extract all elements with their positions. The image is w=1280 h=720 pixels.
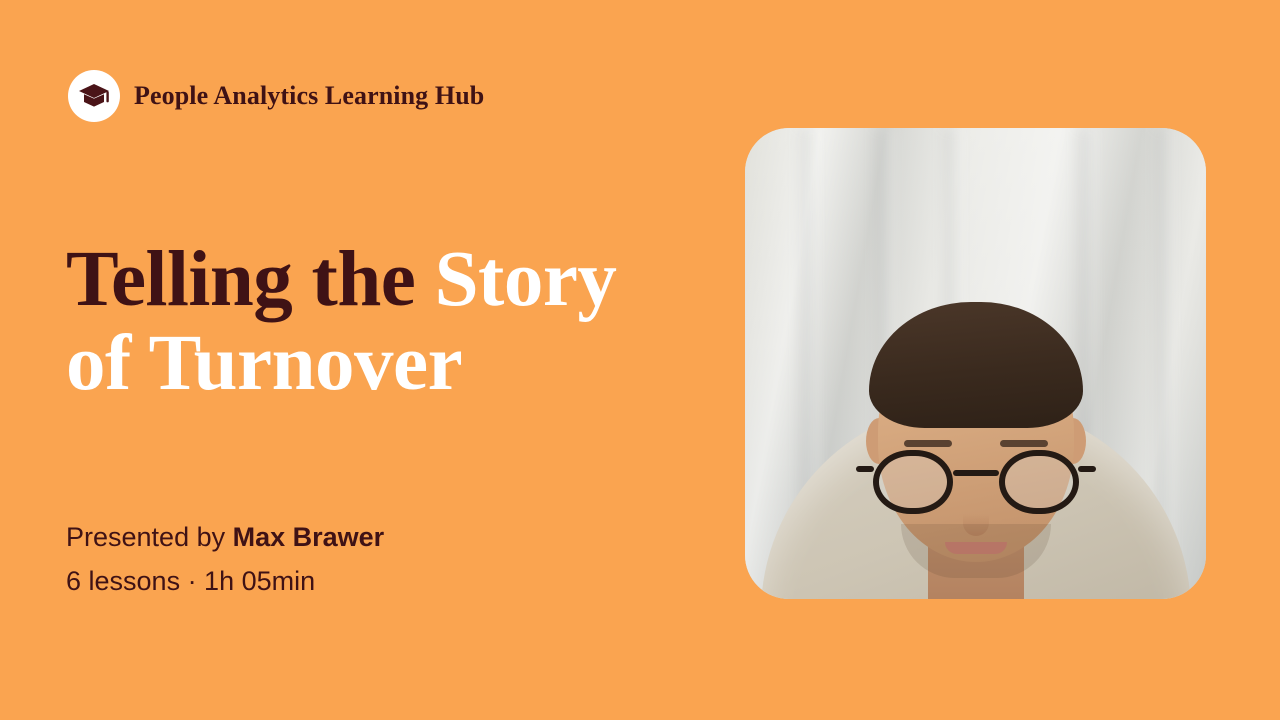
presenter-line: Presented by Max Brawer — [66, 518, 384, 556]
brand-lockup[interactable]: People Analytics Learning Hub — [68, 70, 484, 122]
course-details: 6 lessons · 1h 05min — [66, 562, 384, 600]
glasses-bridge — [953, 470, 999, 476]
title-part-dark: Telling the — [66, 236, 435, 323]
glasses-temple-right — [1078, 466, 1096, 472]
portrait-mouth — [945, 542, 1007, 554]
glasses-lens-right — [999, 450, 1079, 514]
page-title: Telling the Story of Turnover — [66, 238, 706, 406]
title-line-1: Telling the Story — [66, 238, 706, 322]
portrait-eyebrow-left — [904, 440, 952, 447]
presenter-name: Max Brawer — [233, 522, 385, 552]
glasses-icon — [873, 450, 1079, 514]
presented-by-label: Presented by — [66, 522, 233, 552]
course-title-card: People Analytics Learning Hub Telling th… — [0, 0, 1280, 720]
graduation-cap-icon — [78, 83, 110, 109]
portrait-photo — [745, 128, 1206, 599]
glasses-lens-left — [873, 450, 953, 514]
brand-logo-badge — [68, 70, 120, 122]
title-line-2: of Turnover — [66, 322, 706, 406]
title-part-highlight: Story — [435, 236, 617, 323]
brand-name: People Analytics Learning Hub — [134, 83, 484, 109]
portrait-hair — [869, 302, 1083, 428]
glasses-temple-left — [856, 466, 874, 472]
presenter-portrait — [745, 128, 1206, 599]
course-meta: Presented by Max Brawer 6 lessons · 1h 0… — [66, 518, 384, 600]
portrait-eyebrow-right — [1000, 440, 1048, 447]
